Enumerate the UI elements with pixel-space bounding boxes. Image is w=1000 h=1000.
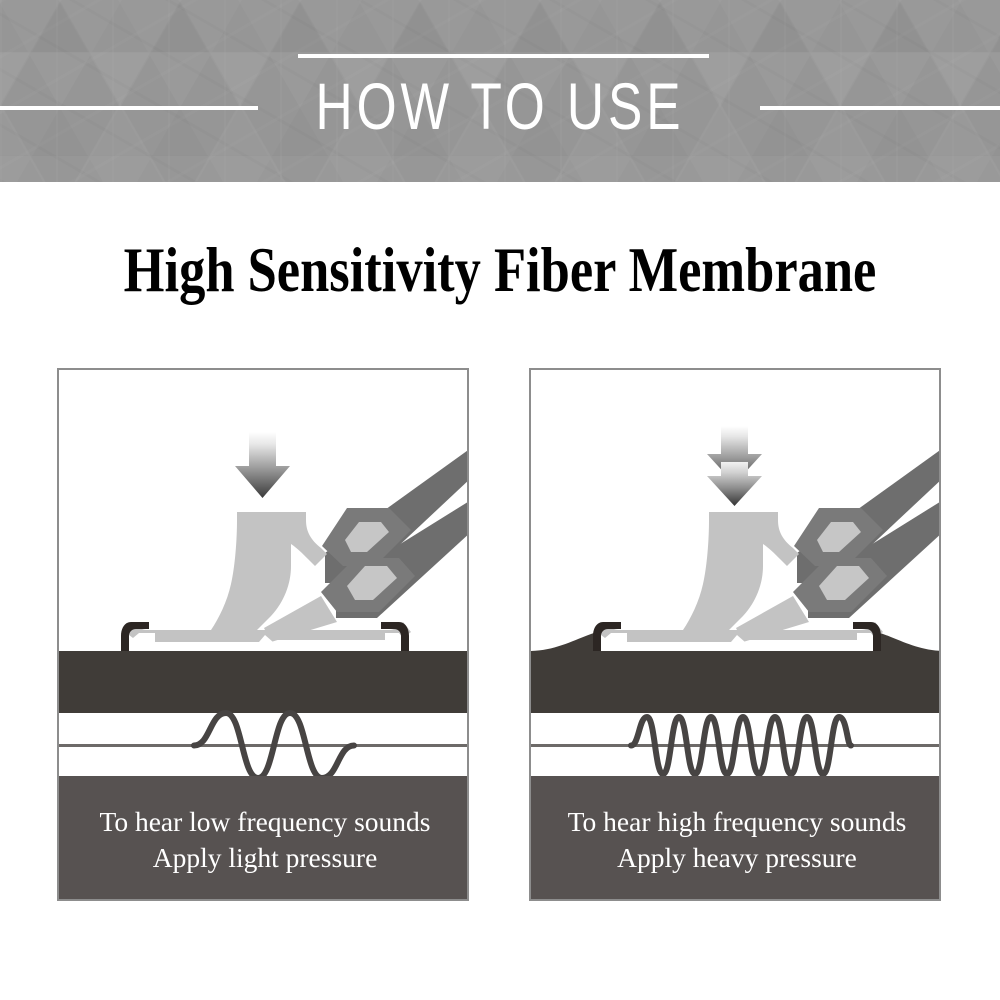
page-title: High Sensitivity Fiber Membrane [90, 235, 910, 305]
panel-illustration-high: To hear high frequency sounds Apply heav… [531, 370, 939, 899]
caption-line-1: To hear low frequency sounds [57, 804, 469, 840]
caption-line-2: Apply heavy pressure [529, 840, 941, 876]
caption-line-2: Apply light pressure [57, 840, 469, 876]
baseline-rule [59, 744, 469, 747]
single-down-arrow-icon [235, 432, 290, 498]
page-root: HOW TO USE High Sensitivity Fiber Membra… [0, 0, 1000, 1000]
panel-low-frequency: To hear low frequency sounds Apply light… [57, 368, 469, 901]
caption-low-frequency: To hear low frequency sounds Apply light… [57, 776, 469, 901]
skin-layer [531, 651, 941, 713]
panel-high-frequency: To hear high frequency sounds Apply heav… [529, 368, 941, 901]
panel-illustration-low: To hear low frequency sounds Apply light… [59, 370, 467, 899]
skin-layer [59, 651, 469, 713]
banner-top-rule [298, 54, 709, 58]
header-banner: HOW TO USE [0, 0, 1000, 182]
caption-high-frequency: To hear high frequency sounds Apply heav… [529, 776, 941, 901]
double-down-arrow-icon [707, 426, 762, 506]
caption-line-1: To hear high frequency sounds [529, 804, 941, 840]
banner-title: HOW TO USE [110, 64, 890, 148]
